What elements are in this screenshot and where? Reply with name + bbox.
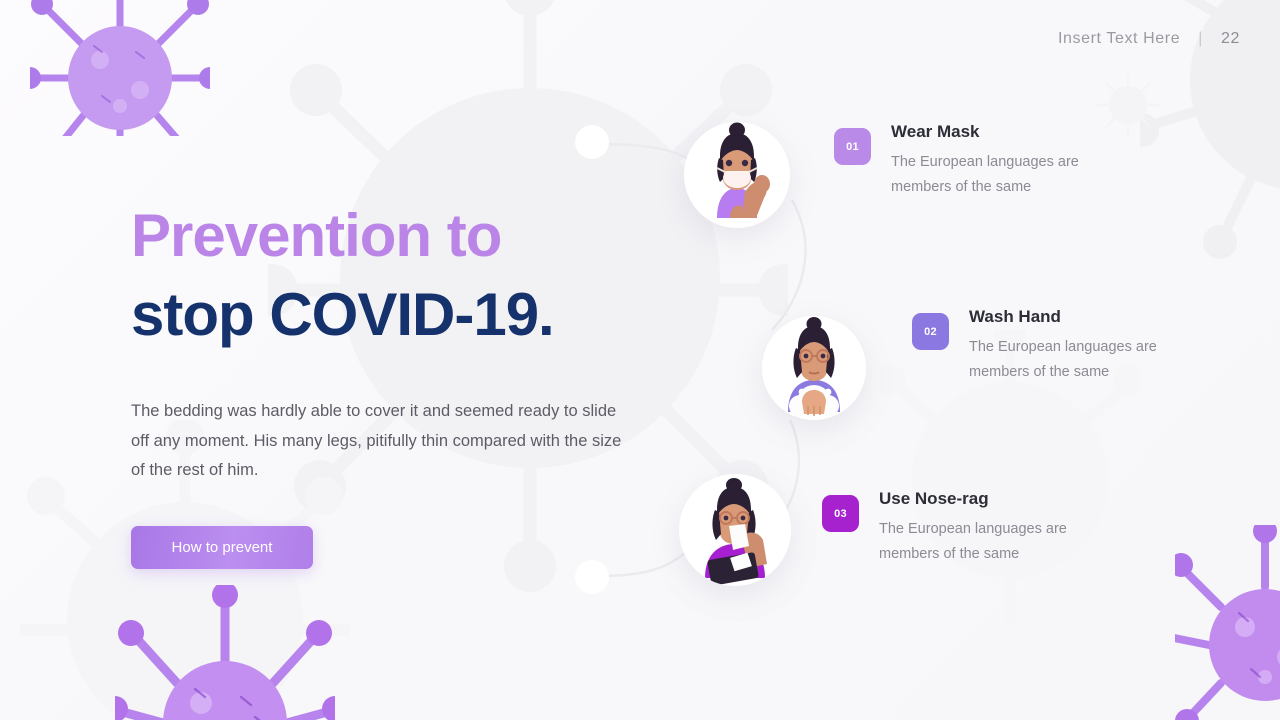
virus-illustration-top-left [30,0,210,136]
illustration-circle-use-nose-rag [679,474,791,586]
step-badge-03: 03 [822,495,859,532]
step-description-01: The European languages are members of th… [891,150,1106,200]
page-number: 22 [1221,30,1240,48]
step-badge-02: 02 [912,313,949,350]
step-description-03: The European languages are members of th… [879,517,1094,567]
woman-wearing-mask-icon [684,122,790,228]
header-label: Insert Text Here [1058,30,1180,48]
header-separator: | [1198,30,1203,48]
step-badge-01: 01 [834,128,871,165]
step-item-03[interactable]: 03 Use Nose-rag The European languages a… [822,489,1094,567]
step-text-02: Wash Hand The European languages are mem… [969,307,1184,385]
virus-illustration-bottom-right [1175,525,1280,720]
step-title-03: Use Nose-rag [879,489,1094,509]
step-text-03: Use Nose-rag The European languages are … [879,489,1094,567]
how-to-prevent-button[interactable]: How to prevent [131,526,313,569]
page-title: Prevention to stop COVID-19. [131,196,651,354]
page-title-line-2: stop COVID-19. [131,275,651,354]
step-description-02: The European languages are members of th… [969,335,1184,385]
page-title-line-1: Prevention to [131,196,651,275]
step-item-01[interactable]: 01 Wear Mask The European languages are … [834,122,1106,200]
step-title-02: Wash Hand [969,307,1184,327]
illustration-circle-wash-hand [762,316,866,420]
step-text-01: Wear Mask The European languages are mem… [891,122,1106,200]
hero-content: Prevention to stop COVID-19. The bedding… [131,196,651,569]
illustration-circle-wear-mask [684,122,790,228]
hero-body-text: The bedding was hardly able to cover it … [131,397,626,485]
slide-canvas: Insert Text Here | 22 Prevention to stop… [0,0,1280,720]
virus-illustration-bottom-left [115,585,335,720]
slide-header: Insert Text Here | 22 [1058,30,1240,48]
woman-using-tissue-icon [679,474,791,586]
step-item-02[interactable]: 02 Wash Hand The European languages are … [912,307,1184,385]
woman-washing-hands-icon [762,316,866,420]
step-title-01: Wear Mask [891,122,1106,142]
